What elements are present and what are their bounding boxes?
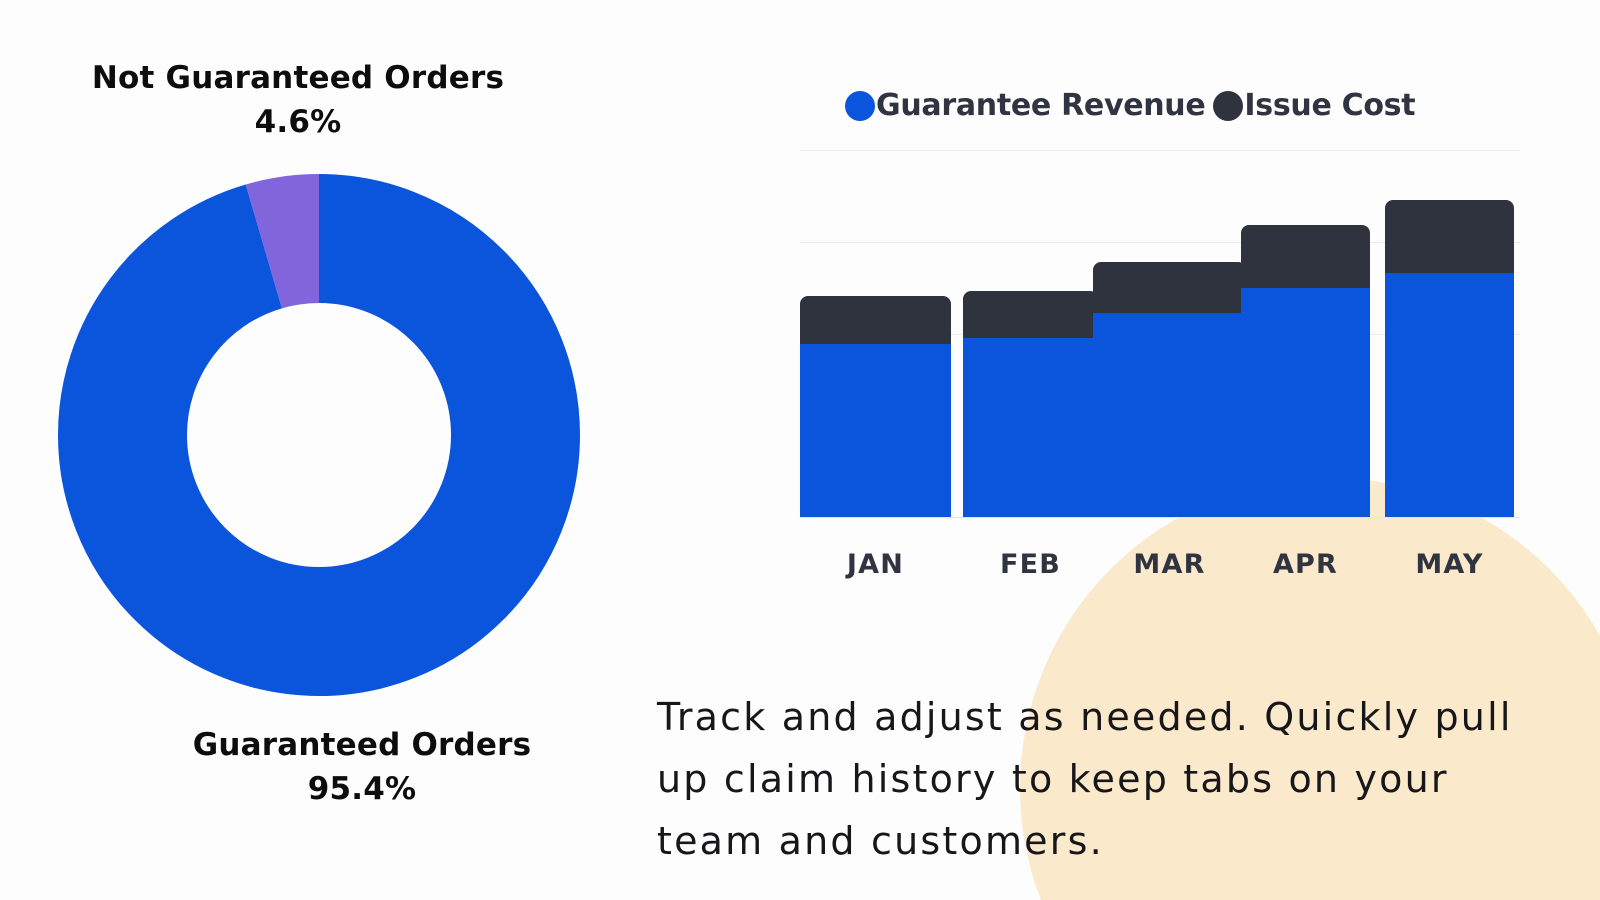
donut-label-guaranteed-value: 95.4% (42, 767, 682, 811)
x-axis-baseline (800, 517, 1520, 518)
bar-may[interactable] (1385, 200, 1514, 517)
body-copy-paragraph: Track and adjust as needed. Quickly pull… (657, 686, 1537, 872)
bar-segment-revenue-mar (1093, 313, 1246, 517)
bar-label-apr: APR (1227, 549, 1384, 580)
bar-segment-revenue-may (1385, 273, 1514, 517)
bar-segment-revenue-feb (963, 338, 1098, 517)
donut-chart-panel: Not Guaranteed Orders 4.6% Guaranteed Or… (0, 0, 640, 900)
bar-label-feb: FEB (955, 549, 1106, 580)
bar-apr[interactable] (1241, 225, 1370, 517)
bar-segment-revenue-apr (1241, 288, 1370, 517)
gridline (800, 150, 1520, 151)
bar-mar[interactable] (1093, 262, 1246, 517)
donut-label-guaranteed-title: Guaranteed Orders (42, 723, 682, 767)
bar-segment-revenue-jan (800, 344, 951, 517)
bar-jan[interactable] (800, 296, 951, 517)
bar-label-jan: JAN (800, 549, 951, 580)
bar-chart-panel: Guarantee Revenue Issue Cost JAN FEB (795, 70, 1535, 590)
donut-label-guaranteed: Guaranteed Orders 95.4% (42, 723, 682, 811)
bar-label-may: MAY (1371, 549, 1528, 580)
bar-chart-plot-area: JAN FEB MAR APR MAY (795, 70, 1535, 590)
infographic-page: Not Guaranteed Orders 4.6% Guaranteed Or… (0, 0, 1600, 900)
bar-feb[interactable] (963, 291, 1098, 517)
